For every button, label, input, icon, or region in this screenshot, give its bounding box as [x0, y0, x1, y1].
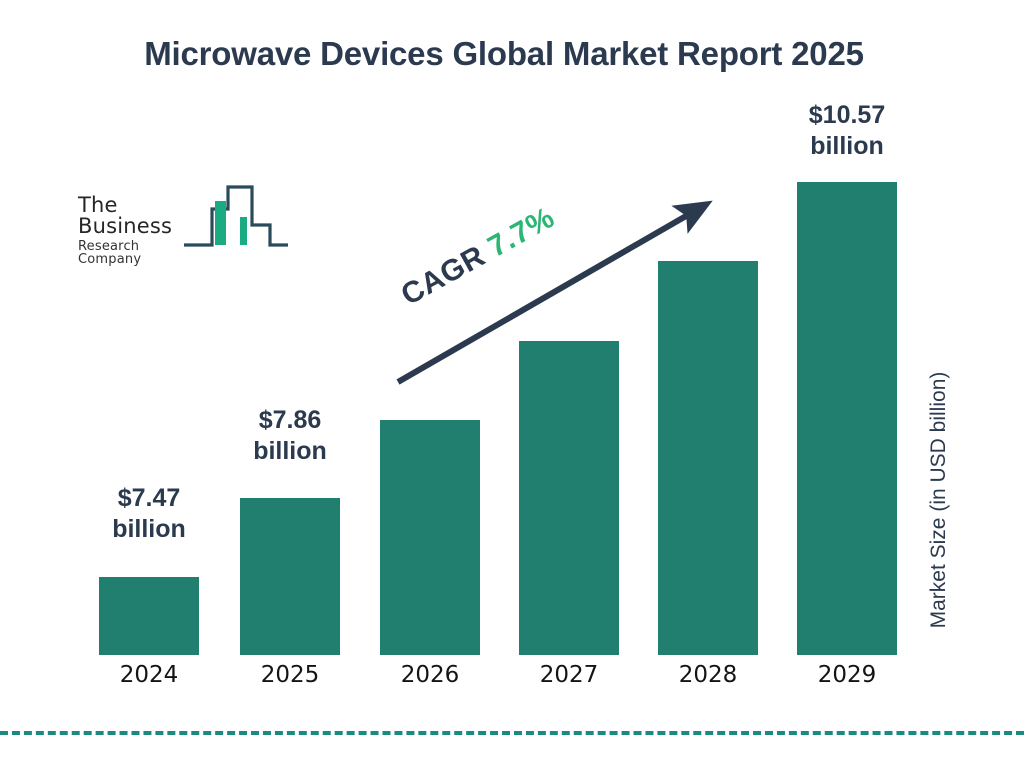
footer-divider: [0, 731, 1024, 735]
y-axis-title-text: Market Size (in USD billion): [927, 330, 951, 670]
y-axis-title: Market Size (in USD billion): [905, 0, 929, 330]
chart-page: Microwave Devices Global Market Report 2…: [0, 0, 1024, 768]
cagr-growth-arrow-icon: [0, 0, 1024, 768]
bar-chart-plot: $7.47 billion $7.86 billion $10.57 billi…: [0, 0, 1024, 768]
